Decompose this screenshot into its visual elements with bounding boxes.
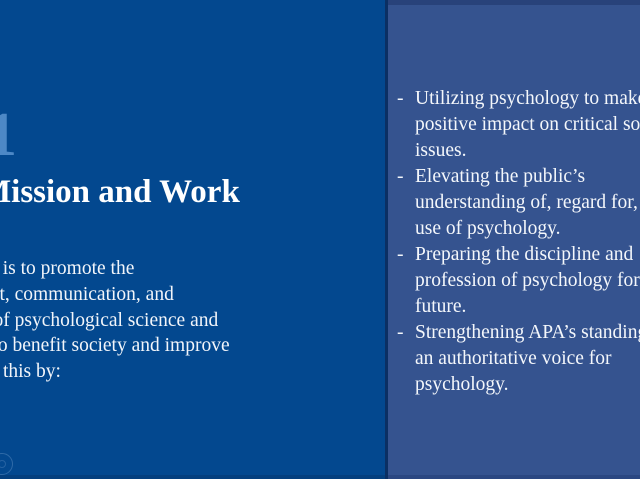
bullet-line: Elevating the public’s — [415, 164, 640, 190]
list-item: - Utilizing psychology to make a positiv… — [388, 86, 640, 164]
bullet-line: issues. — [415, 138, 640, 164]
list-item: - Preparing the discipline and professio… — [388, 242, 640, 320]
slide-heading: Mission and Work — [0, 174, 240, 212]
left-bottom-strip — [0, 475, 386, 479]
bullet-marker-icon: - — [397, 242, 404, 268]
right-panel-bottom-band — [388, 475, 640, 479]
list-item: - Elevating the public’s understanding o… — [388, 164, 640, 242]
mission-line: application of psychological science and — [0, 308, 386, 334]
bullet-line: use of psychology. — [415, 216, 640, 242]
bullet-line: positive impact on critical societal — [415, 112, 640, 138]
slide-number: 1 — [0, 104, 16, 166]
bullet-line: psychology. — [415, 372, 640, 398]
mission-line: knowledge to benefit society and improve — [0, 333, 386, 359]
mission-line: lives. We do this by: — [0, 359, 386, 385]
bullet-marker-icon: - — [397, 86, 404, 112]
bullet-marker-icon: - — [397, 320, 404, 346]
mission-statement: Our mission is to promote the advancemen… — [0, 256, 386, 385]
slide-canvas: 1 Mission and Work Our mission is to pro… — [0, 0, 640, 479]
bullet-line: Strengthening APA’s standing as — [415, 320, 640, 346]
bullet-line: an authoritative voice for — [415, 346, 640, 372]
left-panel: 1 Mission and Work Our mission is to pro… — [0, 0, 386, 479]
bullet-line: profession of psychology for the — [415, 268, 640, 294]
list-item: - Strengthening APA’s standing as an aut… — [388, 320, 640, 398]
bullet-marker-icon: - — [397, 164, 404, 190]
mission-line: Our mission is to promote the — [0, 256, 386, 282]
circle-logo-icon — [0, 453, 13, 475]
bullet-line: Utilizing psychology to make a — [415, 86, 640, 112]
mission-line: advancement, communication, and — [0, 282, 386, 308]
bullet-line: understanding of, regard for, and — [415, 190, 640, 216]
bullet-line: future. — [415, 294, 640, 320]
right-panel: - Utilizing psychology to make a positiv… — [388, 0, 640, 479]
right-panel-top-band — [388, 0, 640, 5]
bullet-line: Preparing the discipline and — [415, 242, 640, 268]
bullet-list: - Utilizing psychology to make a positiv… — [388, 86, 640, 398]
